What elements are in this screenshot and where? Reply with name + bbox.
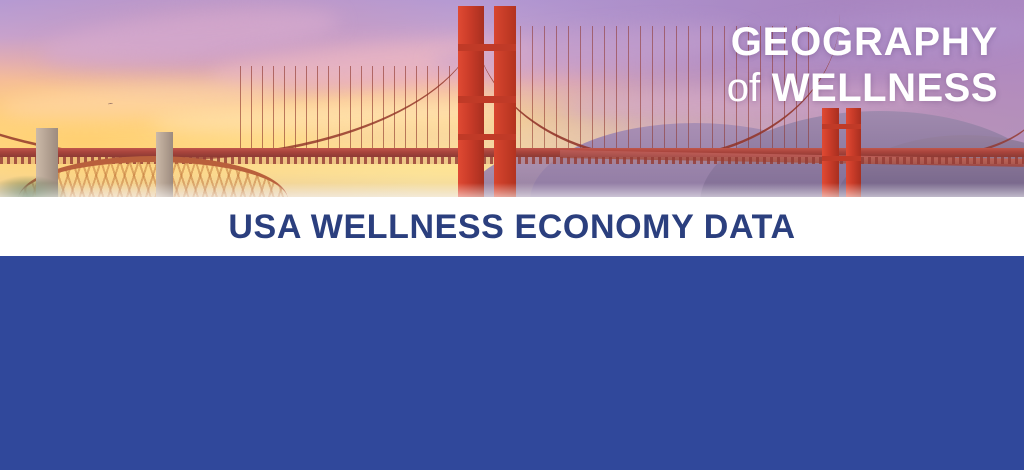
hero-title-of: of — [727, 66, 760, 110]
heading-band: USA WELLNESS ECONOMY DATA — [0, 197, 1024, 256]
hero-title-line1: GEOGRAPHY — [727, 22, 998, 62]
cable-hangers-left — [240, 66, 460, 154]
page-title: USA WELLNESS ECONOMY DATA — [228, 210, 795, 244]
stats-section: $2,140.4b WELLNESS ECONOMY in 2024 #1 GL… — [0, 256, 1024, 470]
tower-crossbeam — [458, 44, 516, 51]
tower-crossbeam — [822, 124, 861, 129]
hero-title-wellness: WELLNESS — [772, 66, 998, 110]
tower-crossbeam — [822, 156, 861, 161]
photo-bottom-fade — [0, 183, 1024, 197]
tower-crossbeam — [458, 96, 516, 103]
tower-crossbeam — [458, 134, 516, 140]
hero-title: GEOGRAPHY of WELLNESS — [727, 22, 998, 108]
hero-title-line2: of WELLNESS — [727, 68, 998, 108]
infographic-root: GEOGRAPHY of WELLNESS USA WELLNESS ECONO… — [0, 0, 1024, 470]
hero-photo-golden-gate-bridge: GEOGRAPHY of WELLNESS — [0, 0, 1024, 197]
